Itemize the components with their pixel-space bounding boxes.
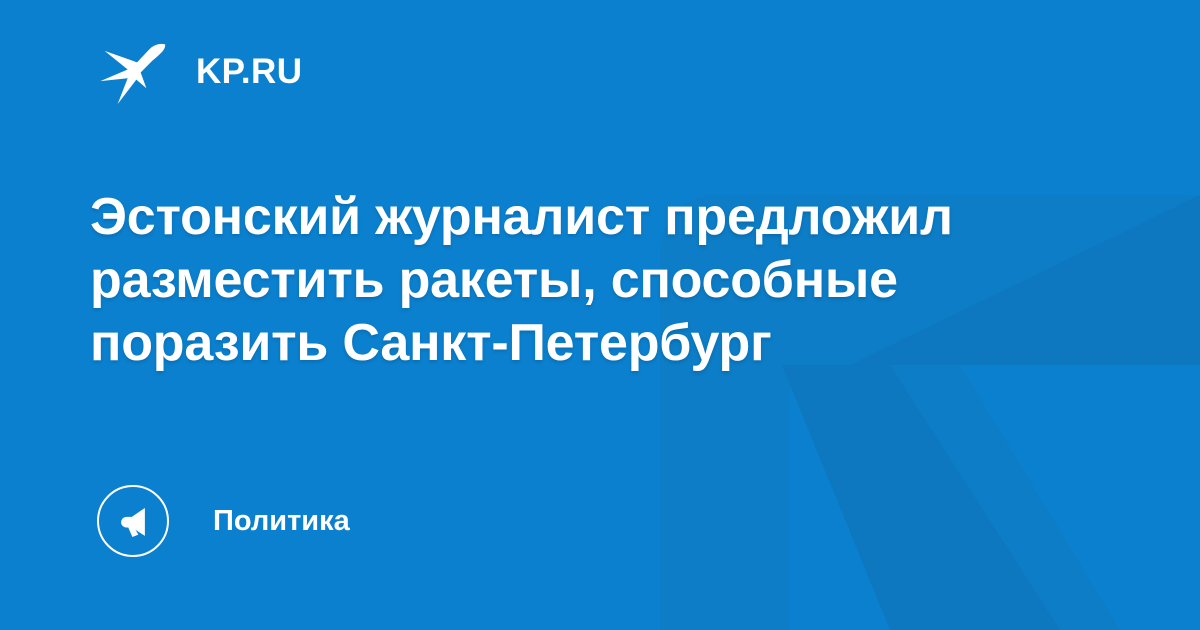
headline-line-3: поразить Санкт-Петербург bbox=[90, 312, 1090, 375]
share-card: KP.RU Эстонский журналист предложил разм… bbox=[0, 0, 1200, 630]
category-tag[interactable]: Политика bbox=[97, 484, 350, 558]
category-label: Политика bbox=[213, 507, 350, 536]
brand-lockup[interactable]: KP.RU bbox=[96, 32, 302, 110]
category-badge bbox=[97, 485, 169, 557]
headline-line-2: разместить ракеты, способные bbox=[90, 249, 1090, 312]
headline: Эстонский журналист предложил разместить… bbox=[90, 186, 1090, 375]
swallow-bird-icon bbox=[96, 35, 168, 107]
headline-line-1: Эстонский журналист предложил bbox=[90, 186, 1090, 249]
brand-name: KP.RU bbox=[196, 54, 302, 89]
